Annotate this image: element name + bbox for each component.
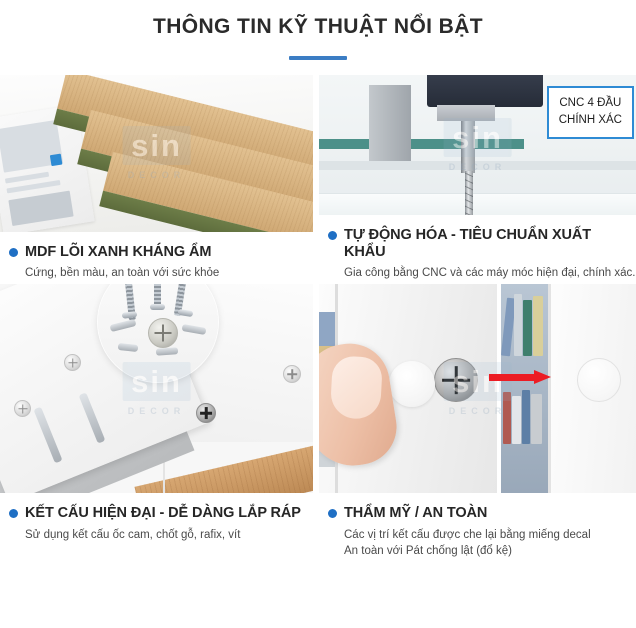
screw-icon [64, 354, 81, 371]
decal-applied [577, 358, 621, 402]
cnc-badge-line2: CHÍNH XÁC [559, 112, 622, 129]
bullet-dot-icon [328, 231, 337, 240]
feature-subtext-line: Gia công bằng CNC và các máy móc hiện đạ… [344, 265, 636, 282]
feature-subtext-line: Sử dụng kết cấu ốc cam, chốt gỗ, rafix, … [25, 527, 313, 544]
board-top-surface [319, 193, 636, 215]
drill-bit-icon [465, 171, 473, 215]
screw-icon [283, 365, 301, 383]
screw-icon [434, 358, 478, 402]
feature-card-structure: sin DECOR KẾT CẤU HIỆN ĐẠI - DỄ DÀNG LẮP… [0, 284, 313, 628]
tech-info-infographic: THÔNG TIN KỸ THUẬT NỔI BẬT [0, 0, 636, 628]
machine-rail [319, 161, 636, 170]
shelf-with-books [501, 284, 548, 493]
page-title: THÔNG TIN KỸ THUẬT NỔI BẬT [0, 14, 636, 39]
feature-subtext: Gia công bằng CNC và các máy móc hiện đạ… [344, 265, 636, 282]
cnc-collet [437, 105, 495, 121]
feature-card-aesthetic-safety: sin DECOR THẨM MỸ / AN TOÀN Các vị trí k… [319, 284, 636, 628]
feature-subtext: Cứng, bền màu, an toàn với sức khỏe [25, 265, 313, 282]
decal-cap [389, 361, 435, 407]
header: THÔNG TIN KỸ THUẬT NỔI BẬT [0, 0, 636, 60]
feature-grid: sin DECOR MDF LÕI XANH KHÁNG ẨM Cứng, bề… [0, 75, 636, 628]
feature-subtext: Sử dụng kết cấu ốc cam, chốt gỗ, rafix, … [25, 527, 313, 544]
cnc-badge: CNC 4 ĐẦU CHÍNH XÁC [547, 86, 634, 139]
feature-title: KẾT CẤU HIỆN ĐẠI - DỄ DÀNG LẮP RÁP [25, 505, 301, 522]
cnc-badge-line1: CNC 4 ĐẦU [559, 95, 622, 112]
drill-shank [461, 121, 475, 173]
feature-card-mdf-core: sin DECOR MDF LÕI XANH KHÁNG ẨM Cứng, bề… [0, 75, 313, 282]
door-edge-right [548, 284, 551, 493]
photo-assembly-hardware: sin DECOR [0, 284, 313, 493]
photo-mdf-boards: sin DECOR [0, 75, 313, 232]
feature-card-automation: sin DECOR CNC 4 ĐẦU CHÍNH XÁC TỰ ĐỘNG HÓ… [319, 75, 636, 282]
feature-title: MDF LÕI XANH KHÁNG ẨM [25, 244, 211, 261]
photo-cnc-machine: sin DECOR CNC 4 ĐẦU CHÍNH XÁC [319, 75, 636, 215]
caption-mdf-core: MDF LÕI XANH KHÁNG ẨM Cứng, bền màu, an … [0, 232, 313, 282]
bullet-dot-icon [9, 248, 18, 257]
caption-automation: TỰ ĐỘNG HÓA - TIÊU CHUẨN XUẤT KHẨU Gia c… [319, 215, 636, 282]
background-board-strip [319, 139, 524, 149]
cam-lock-icon [148, 318, 178, 348]
caption-aesthetic-safety: THẨM MỸ / AN TOÀN Các vị trí kết cấu đượ… [319, 493, 636, 560]
bullet-dot-icon [328, 509, 337, 518]
caption-structure: KẾT CẤU HIỆN ĐẠI - DỄ DÀNG LẮP RÁP Sử dụ… [0, 493, 313, 543]
bullet-dot-icon [9, 509, 18, 518]
feature-title: TỰ ĐỘNG HÓA - TIÊU CHUẨN XUẤT KHẨU [344, 227, 636, 260]
feature-subtext-line: Cứng, bền màu, an toàn với sức khỏe [25, 265, 313, 282]
cam-screw-icon [196, 403, 216, 423]
fingernail [330, 355, 383, 420]
cnc-spindle-housing [427, 75, 543, 107]
feature-subtext-line: Các vị trí kết cấu được che lại bằng miế… [344, 527, 636, 544]
feature-subtext: Các vị trí kết cấu được che lại bằng miế… [344, 527, 636, 560]
title-underline-rule [289, 56, 347, 60]
machine-column [369, 85, 411, 165]
feature-title: THẨM MỸ / AN TOÀN [344, 505, 487, 522]
arrow-right-icon [489, 370, 551, 383]
photo-decal-cover: sin DECOR [319, 284, 636, 493]
screw-icon [14, 400, 31, 417]
feature-subtext-line: An toàn với Pát chống lật (đổ kệ) [344, 543, 636, 560]
